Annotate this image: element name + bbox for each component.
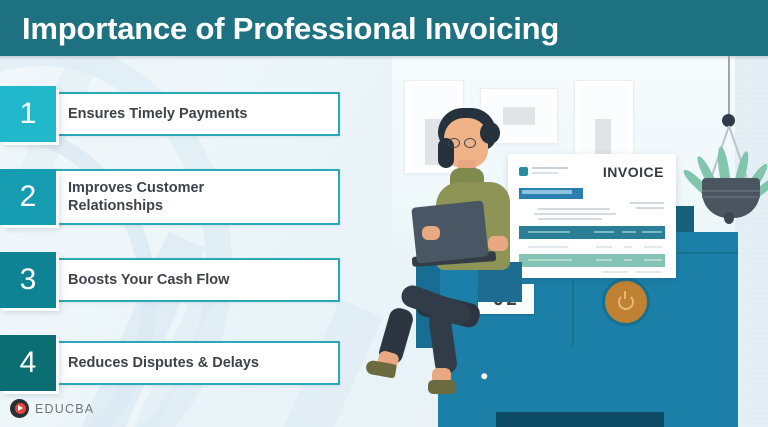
- printer-paper-slot: [496, 412, 664, 427]
- illustration: 02 INVOICE: [392, 56, 768, 427]
- pot-tassel: [724, 212, 734, 224]
- header-bar: Importance of Professional Invoicing: [0, 0, 768, 56]
- plant-cord: [728, 56, 730, 118]
- person-hand-right: [488, 236, 508, 251]
- pot-band: [702, 196, 760, 198]
- invoice-cell-line: [644, 246, 662, 248]
- list-item-number: 4: [20, 346, 37, 380]
- list-item-number-badge: 1: [0, 86, 56, 142]
- list-item-textbox: Improves Customer Relationships: [50, 169, 340, 225]
- invoice-cell-line: [642, 231, 662, 233]
- list-item[interactable]: 2 Improves Customer Relationships: [0, 169, 340, 225]
- list-item[interactable]: 1 Ensures Timely Payments: [0, 86, 340, 142]
- invoice-logo-icon: [519, 167, 528, 176]
- invoice-document: INVOICE: [508, 154, 676, 278]
- list-item-number: 1: [20, 97, 37, 131]
- invoice-cell-line: [528, 246, 568, 248]
- brand-logo[interactable]: EDUCBA: [10, 399, 94, 418]
- benefits-list: 1 Ensures Timely Payments 2 Improves Cus…: [0, 56, 400, 386]
- power-icon: [618, 294, 634, 310]
- list-item-label: Reduces Disputes & Delays: [50, 354, 273, 372]
- list-item-number-badge: 2: [0, 169, 56, 225]
- infographic-canvas: Importance of Professional Invoicing 1 E…: [0, 0, 768, 427]
- invoice-cell-line: [636, 271, 662, 273]
- list-item-number: 3: [20, 263, 37, 297]
- person-hand-left: [422, 226, 440, 240]
- invoice-body-line: [534, 213, 616, 215]
- educba-play-icon: [10, 399, 29, 418]
- list-item-label: Boosts Your Cash Flow: [50, 271, 243, 289]
- invoice-cell-line: [596, 246, 612, 248]
- list-item[interactable]: 3 Boosts Your Cash Flow: [0, 252, 340, 308]
- frame-art: [503, 107, 535, 125]
- page-title: Importance of Professional Invoicing: [22, 13, 559, 44]
- invoice-cell-line: [596, 259, 612, 261]
- list-item[interactable]: 4 Reduces Disputes & Delays: [0, 335, 340, 391]
- person-shoe-front: [428, 380, 456, 394]
- invoice-body-line: [538, 218, 602, 220]
- invoice-meta-line: [636, 207, 664, 209]
- invoice-cell-line: [528, 259, 572, 261]
- list-item-label: Improves Customer Relationships: [50, 179, 218, 215]
- invoice-body-line: [538, 208, 610, 210]
- list-item-label: Ensures Timely Payments: [50, 105, 261, 123]
- printer-body-lower: [438, 348, 738, 366]
- invoice-cell-line: [624, 246, 632, 248]
- printer-power-button[interactable]: [602, 278, 650, 326]
- list-item-textbox: Ensures Timely Payments: [50, 92, 340, 136]
- brand-name: EDUCBA: [35, 402, 94, 416]
- invoice-logo-line: [532, 167, 568, 169]
- printer-panel-divider: [572, 266, 574, 346]
- invoice-cell-line: [644, 259, 662, 261]
- invoice-cell-line: [622, 231, 636, 233]
- invoice-title: INVOICE: [603, 164, 664, 180]
- list-item-textbox: Boosts Your Cash Flow: [50, 258, 340, 302]
- invoice-cell-line: [528, 231, 570, 233]
- person-hair-bun: [480, 122, 500, 144]
- list-item-textbox: Reduces Disputes & Delays: [50, 341, 340, 385]
- invoice-cell-line: [624, 259, 632, 261]
- invoice-banner-text: [522, 190, 572, 194]
- invoice-meta-line: [630, 202, 664, 204]
- pot-band: [702, 190, 760, 192]
- person-glasses: [448, 138, 478, 146]
- invoice-cell-line: [602, 271, 628, 273]
- list-item-number-badge: 4: [0, 335, 56, 391]
- list-item-number: 2: [20, 180, 37, 214]
- invoice-logo-line: [532, 172, 558, 174]
- invoice-cell-line: [594, 231, 614, 233]
- list-item-number-badge: 3: [0, 252, 56, 308]
